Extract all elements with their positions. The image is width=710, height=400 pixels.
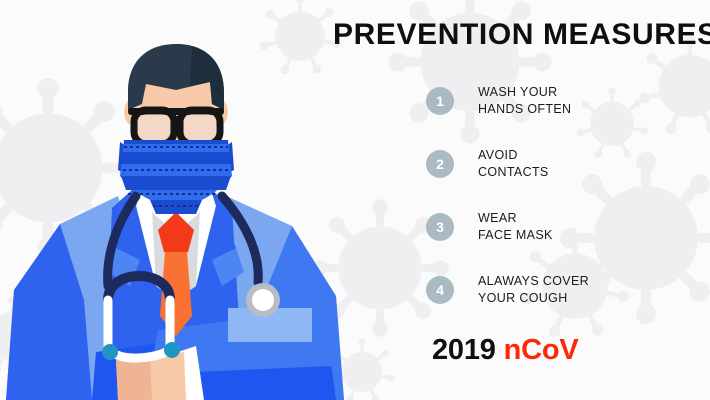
measure-number-badge: 1 [426,87,454,115]
list-item: 2 AVOID CONTACTS [330,147,710,210]
measure-number-badge: 4 [426,276,454,304]
glasses [128,108,224,144]
content-column: PREVENTION MEASURES 1 WASH YOUR HANDS OF… [330,0,710,400]
stethoscope-tip-right [164,342,180,358]
list-item: 4 ALAWAYS COVER YOUR COUGH [330,273,710,336]
list-item: 3 WEAR FACE MASK [330,210,710,273]
measures-list: 1 WASH YOUR HANDS OFTEN 2 AVOID CONTACTS… [330,84,710,336]
brand-lockup: 2019 nCoV [432,334,579,367]
list-item: 1 WASH YOUR HANDS OFTEN [330,84,710,147]
measure-label: AVOID CONTACTS [478,147,549,180]
page-title: PREVENTION MEASURES [333,18,710,52]
measure-label: ALAWAYS COVER YOUR COUGH [478,273,589,306]
measure-number-badge: 3 [426,213,454,241]
stethoscope-tip-left [102,344,118,360]
measure-label: WEAR FACE MASK [478,210,553,243]
doctor-illustration [0,0,360,400]
brand-year: 2019 [432,334,496,366]
stethoscope-chestpiece [246,283,280,317]
measure-number-badge: 2 [426,150,454,178]
brand-name: nCoV [504,334,579,366]
measure-label: WASH YOUR HANDS OFTEN [478,84,571,117]
prevention-measures-poster: PREVENTION MEASURES 1 WASH YOUR HANDS OF… [0,0,710,400]
